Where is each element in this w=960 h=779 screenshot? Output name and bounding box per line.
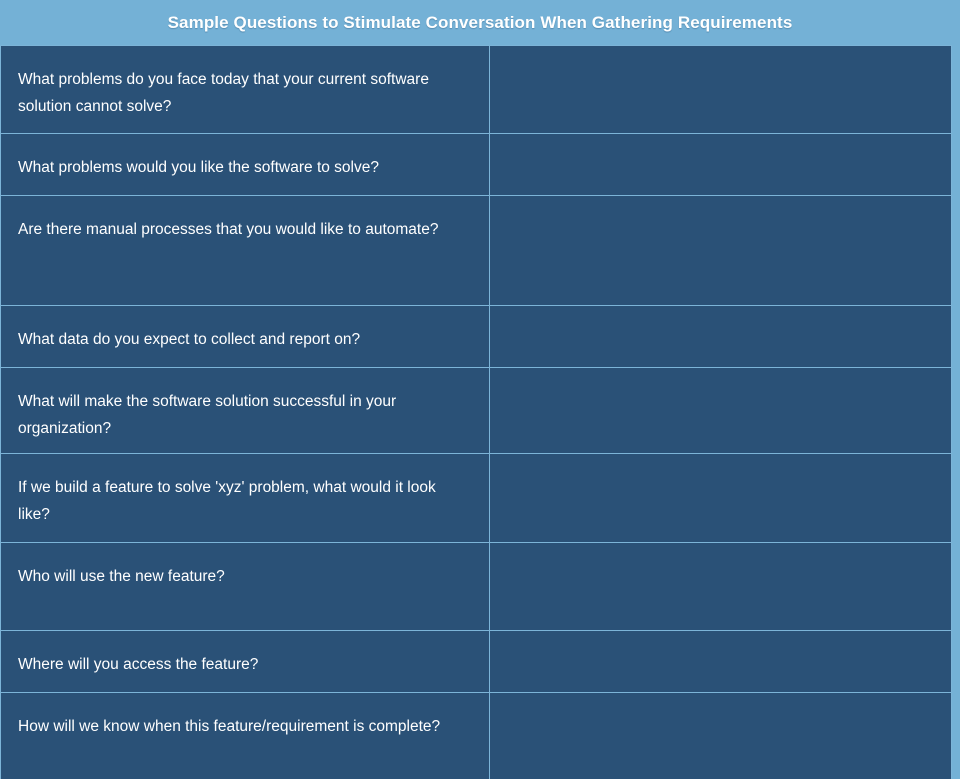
question-text: What problems do you face today that you… xyxy=(18,46,489,120)
table-row: What problems would you like the softwar… xyxy=(1,134,952,196)
table-row: Are there manual processes that you woul… xyxy=(1,196,952,306)
answer-text[interactable] xyxy=(490,693,960,779)
question-cell: Are there manual processes that you woul… xyxy=(1,196,490,306)
answer-cell[interactable] xyxy=(490,134,952,196)
question-text: How will we know when this feature/requi… xyxy=(18,693,489,740)
question-text: What will make the software solution suc… xyxy=(18,368,489,442)
question-cell: What problems do you face today that you… xyxy=(1,46,490,134)
answer-cell[interactable] xyxy=(490,196,952,306)
question-text: Are there manual processes that you woul… xyxy=(18,196,489,243)
question-text: What problems would you like the softwar… xyxy=(18,134,489,181)
answer-cell[interactable] xyxy=(490,693,952,779)
table-row: What will make the software solution suc… xyxy=(1,368,952,454)
table-row: What data do you expect to collect and r… xyxy=(1,306,952,368)
question-text: Where will you access the feature? xyxy=(18,631,489,678)
answer-cell[interactable] xyxy=(490,368,952,454)
question-cell: Where will you access the feature? xyxy=(1,631,490,693)
answer-cell[interactable] xyxy=(490,46,952,134)
page-title: Sample Questions to Stimulate Conversati… xyxy=(168,13,793,33)
answer-cell[interactable] xyxy=(490,631,952,693)
table-row: Who will use the new feature? xyxy=(1,543,952,631)
table-row: Where will you access the feature? xyxy=(1,631,952,693)
table-row: What problems do you face today that you… xyxy=(1,46,952,134)
answer-cell[interactable] xyxy=(490,543,952,631)
questions-table-body: What problems do you face today that you… xyxy=(1,46,952,779)
slide-title-band: Sample Questions to Stimulate Conversati… xyxy=(0,0,960,45)
question-cell: What data do you expect to collect and r… xyxy=(1,306,490,368)
questions-table: What problems do you face today that you… xyxy=(0,45,952,779)
question-text: Who will use the new feature? xyxy=(18,543,489,590)
question-cell: If we build a feature to solve 'xyz' pro… xyxy=(1,454,490,543)
question-text: What data do you expect to collect and r… xyxy=(18,306,489,353)
question-text: If we build a feature to solve 'xyz' pro… xyxy=(18,454,489,528)
question-cell: What will make the software solution suc… xyxy=(1,368,490,454)
table-row: How will we know when this feature/requi… xyxy=(1,693,952,779)
answer-cell[interactable] xyxy=(490,454,952,543)
question-cell: How will we know when this feature/requi… xyxy=(1,693,490,779)
question-cell: What problems would you like the softwar… xyxy=(1,134,490,196)
table-row: If we build a feature to solve 'xyz' pro… xyxy=(1,454,952,543)
slide-canvas: Sample Questions to Stimulate Conversati… xyxy=(0,0,960,779)
answer-cell[interactable] xyxy=(490,306,952,368)
question-cell: Who will use the new feature? xyxy=(1,543,490,631)
